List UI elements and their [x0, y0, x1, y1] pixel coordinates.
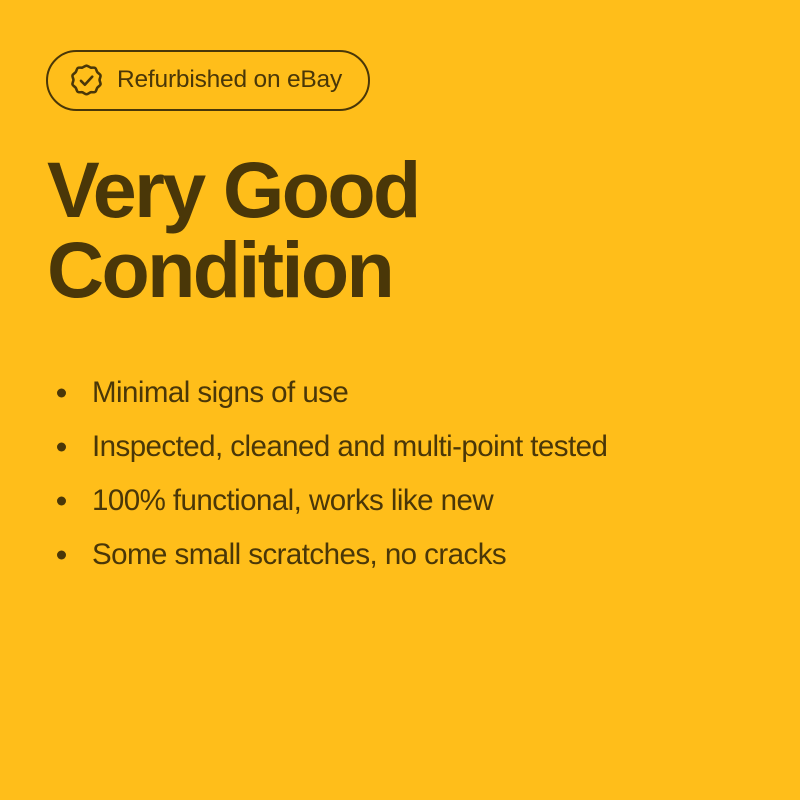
refurbished-condition-card: Refurbished on eBay Very Good Condition … [0, 0, 800, 800]
verified-rosette-check-icon [70, 64, 103, 97]
list-item-label: 100% functional, works like new [92, 486, 493, 516]
condition-headline: Very Good Condition [47, 150, 419, 310]
list-item-label: Inspected, cleaned and multi-point teste… [92, 432, 607, 462]
refurbished-badge: Refurbished on eBay [46, 50, 370, 111]
list-item: Minimal signs of use [52, 366, 607, 420]
bullet-dot-icon [57, 551, 66, 560]
list-item: 100% functional, works like new [52, 474, 607, 528]
bullet-dot-icon [57, 443, 66, 452]
list-item-label: Some small scratches, no cracks [92, 540, 506, 570]
condition-feature-list: Minimal signs of use Inspected, cleaned … [52, 366, 607, 582]
list-item: Inspected, cleaned and multi-point teste… [52, 420, 607, 474]
refurbished-badge-label: Refurbished on eBay [117, 68, 342, 93]
bullet-dot-icon [57, 389, 66, 398]
list-item: Some small scratches, no cracks [52, 528, 607, 582]
list-item-label: Minimal signs of use [92, 378, 348, 408]
bullet-dot-icon [57, 497, 66, 506]
